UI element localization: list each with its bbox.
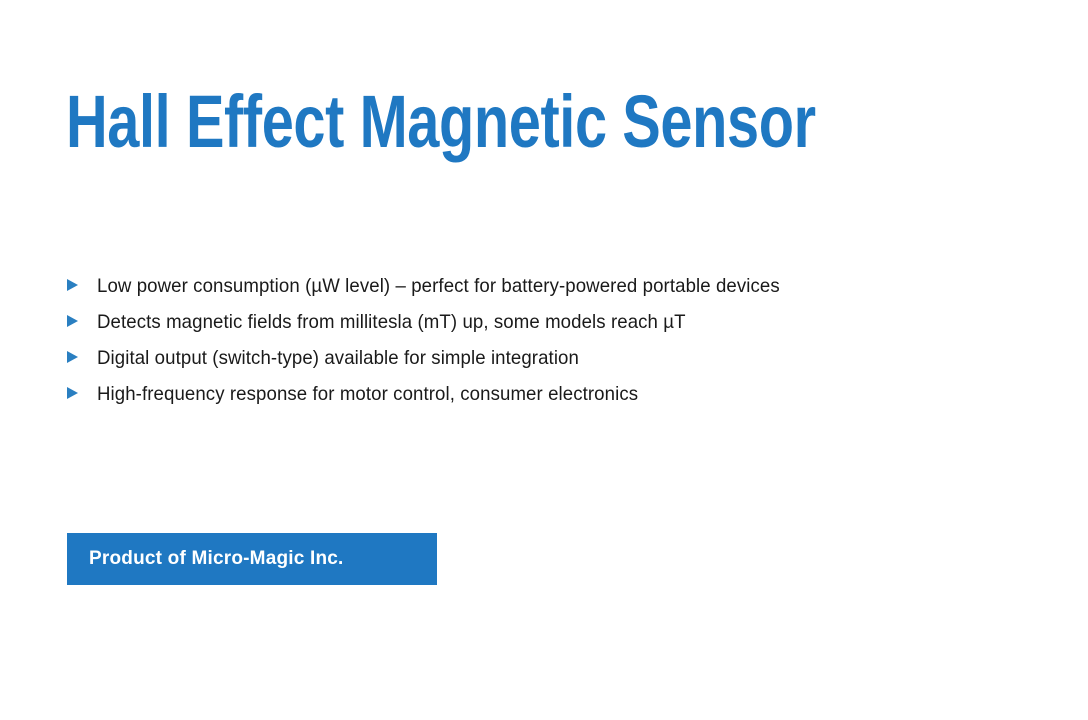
triangle-right-icon bbox=[67, 351, 78, 363]
list-item-label: Low power consumption (µW level) – perfe… bbox=[97, 274, 780, 298]
triangle-right-icon bbox=[67, 315, 78, 327]
list-item-label: High-frequency response for motor contro… bbox=[97, 382, 638, 406]
list-item-label: Digital output (switch-type) available f… bbox=[97, 346, 579, 370]
slide-canvas: Hall Effect Magnetic Sensor Low power co… bbox=[0, 0, 1088, 720]
list-item: Digital output (switch-type) available f… bbox=[66, 340, 1026, 376]
list-item-label: Detects magnetic fields from millitesla … bbox=[97, 310, 686, 334]
list-item: Detects magnetic fields from millitesla … bbox=[66, 304, 1026, 340]
list-item: High-frequency response for motor contro… bbox=[66, 376, 1026, 412]
feature-bullet-list: Low power consumption (µW level) – perfe… bbox=[66, 268, 1026, 412]
product-attribution-badge: Product of Micro-Magic Inc. bbox=[67, 533, 437, 585]
page-title: Hall Effect Magnetic Sensor bbox=[66, 82, 815, 162]
triangle-right-icon bbox=[67, 279, 78, 291]
triangle-right-icon bbox=[67, 387, 78, 399]
list-item: Low power consumption (µW level) – perfe… bbox=[66, 268, 1026, 304]
product-attribution-label: Product of Micro-Magic Inc. bbox=[89, 548, 344, 570]
